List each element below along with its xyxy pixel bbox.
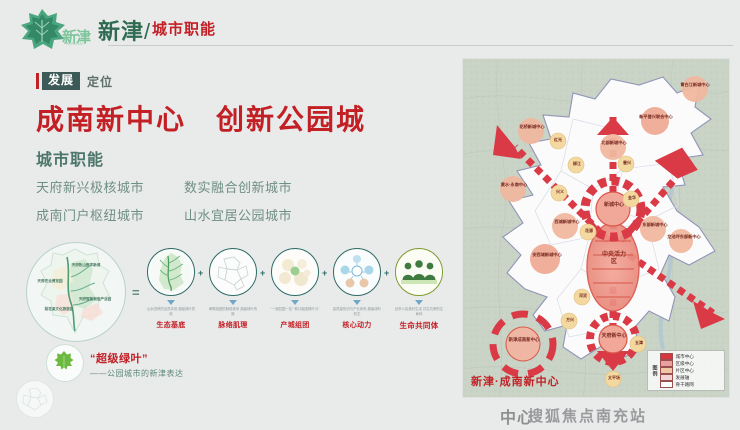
section-badge: 发展 定位	[36, 72, 113, 90]
legend-swatch	[660, 374, 673, 381]
map-label-area: 太平场	[605, 376, 623, 380]
diagram-node-core-power[interactable]: 高质量知识与产业体系 超级绿叶的芯 核心动力	[332, 248, 382, 330]
map-legend: 图例 城市中心 区级中心 片区中心 发展轴	[647, 350, 725, 391]
legend-text: 城市中心	[676, 354, 694, 360]
node-desc: 串联组团的脉络体系 超级绿叶的脉	[208, 307, 258, 318]
legend-swatch	[660, 360, 673, 367]
map-label-chengnan-center: 新津成南新中心	[505, 338, 543, 343]
territory-label: 天府智能制造产业园	[77, 297, 113, 301]
people-icon	[395, 248, 443, 296]
legend-row: 发展轴	[660, 374, 722, 381]
map-graphic	[463, 59, 729, 397]
faint-network-icon	[17, 381, 53, 417]
page-header: 新津 XINJIN 新津/ 城市职能	[0, 0, 740, 52]
map-label-area: 邓双	[574, 294, 592, 298]
river-network-icon	[147, 248, 195, 296]
planning-map[interactable]: 中央活力区 新城中心 天府新中心 新津成南新中心 花桥新城中心 北部新城中心 东…	[462, 58, 730, 398]
map-label-tianfu-center: 天府新中心	[598, 334, 630, 340]
hero-headline: 成南新中心 创新公园城	[36, 98, 366, 138]
xinjin-territory-circle: 天府牧山数字新城 天府农业博览园 天府智能制造产业园 梨花溪文化旅游区	[26, 242, 126, 342]
map-label-area: 兴义	[551, 190, 569, 194]
node-label: 生命共同体	[394, 320, 444, 331]
page-title: 新津/	[98, 14, 151, 46]
super-leaf-subtitle: ——公园城市的新津表达	[90, 368, 184, 379]
function-item: 天府新兴极核城市	[36, 177, 176, 196]
core-hub-icon	[333, 248, 381, 296]
function-item: 山水宜居公园城市	[184, 205, 324, 224]
node-label: 产城组团	[270, 320, 320, 330]
brand-logo[interactable]: 新津 XINJIN	[14, 6, 106, 50]
concept-diagram: 天府牧山数字新城 天府农业博览园 天府智能制造产业园 梨花溪文化旅游区 = 山水…	[8, 240, 448, 420]
map-label-district: 安西城新城中心	[529, 253, 565, 258]
map-label-city-center: 新城中心	[599, 203, 629, 209]
diagram-node-texture[interactable]: 串联组团的脉络体系 超级绿叶的脉 脉络肌理	[208, 248, 258, 330]
diagram-node-life-community[interactable]: 创享人民美好生活 共生共荣的生命体 生命共同体	[394, 248, 444, 331]
map-label-district: 新平普兴联合中心	[637, 115, 675, 120]
legend-row: 骨干路网	[660, 381, 722, 388]
legend-swatch	[660, 381, 673, 388]
down-arrow-icon	[229, 300, 237, 305]
plus-sign: +	[322, 268, 327, 278]
territory-label: 天府农业博览园	[35, 279, 65, 283]
diagram-node-eco-base[interactable]: 山水田林的自然本底 超级绿叶的底 生态基底	[146, 248, 196, 330]
down-arrow-icon	[415, 300, 423, 305]
page-title-text: 新津	[98, 19, 144, 44]
down-arrow-icon	[291, 300, 299, 305]
territory-map-icon	[27, 243, 125, 341]
legend-swatch	[660, 353, 673, 360]
map-label-area: 金华	[623, 196, 641, 200]
down-arrow-icon	[167, 300, 175, 305]
header-divider	[108, 45, 733, 46]
badge-accent-bar	[36, 73, 39, 89]
super-leaf-title: “超级绿叶”	[90, 350, 148, 366]
map-label-area: 花源	[580, 229, 598, 233]
territory-label: 天府牧山数字新城	[69, 263, 103, 267]
page-subtitle: 城市职能	[152, 18, 216, 39]
badge-tail-label: 定位	[87, 73, 113, 90]
logo-subtext: XINJIN	[66, 41, 83, 46]
map-label-district: 花桥新城中心	[515, 125, 549, 130]
badge-label: 发展	[42, 72, 80, 90]
map-caption: 新津·成南新中心	[471, 373, 560, 389]
map-label-district: 东部新城中心	[639, 223, 671, 228]
map-label-district: 黄水·永商中心	[497, 183, 531, 188]
functions-section-title: 城市职能	[36, 146, 104, 170]
legend-swatch	[660, 367, 673, 374]
legend-text: 片区中心	[676, 368, 694, 374]
node-desc: 山水田林的自然本底 超级绿叶的底	[146, 307, 196, 318]
node-label: 脉络肌理	[208, 320, 258, 330]
map-label-central-vitality: 中央活力区	[600, 252, 628, 265]
map-label-district: 龙池坪东部新中心	[665, 235, 703, 240]
legend-title: 图例	[651, 365, 658, 377]
node-desc: 创享人民美好生活 共生共荣的生命体	[394, 307, 444, 318]
down-arrow-icon	[353, 300, 361, 305]
node-label: 核心动力	[332, 320, 382, 330]
map-label-area: 普兴	[618, 161, 636, 165]
legend-row: 区级中心	[660, 360, 722, 367]
map-label-district: 西城新城中心	[551, 220, 583, 225]
legend-row: 片区中心	[660, 367, 722, 374]
diagram-node-cluster[interactable]: "一城四园一区" 种口组团绿叶'片' 产城组团	[270, 248, 320, 330]
legend-row: 城市中心	[660, 353, 722, 360]
street-grid-icon	[209, 248, 257, 296]
functions-grid: 天府新兴极核城市 数实融合创新城市 成南门户枢纽城市 山水宜居公园城市	[36, 177, 336, 224]
map-label-area: 柳江	[568, 162, 586, 166]
map-label-district: 北部新城中心	[598, 141, 630, 146]
title-slash: /	[144, 19, 151, 44]
secondary-diagram-circle	[16, 380, 54, 418]
function-item: 数实融合创新城市	[184, 177, 324, 196]
equals-sign: =	[132, 285, 140, 300]
plus-sign: +	[198, 268, 203, 278]
slide-root: 新津 XINJIN 新津/ 城市职能 发展 定位 成南新中心 创新公园城 城市职…	[0, 0, 740, 430]
map-label-area: 五津	[630, 341, 648, 345]
cluster-icon	[271, 248, 319, 296]
plus-sign: +	[384, 268, 389, 278]
leaf-logo-icon	[18, 8, 68, 50]
green-leaf-icon	[54, 350, 74, 370]
plus-sign: +	[260, 268, 265, 278]
watermark: 中心 搜狐焦点南充站	[500, 404, 740, 426]
map-label-area: 方兴	[561, 318, 579, 322]
watermark-text-b: 搜狐焦点南充站	[528, 405, 647, 426]
map-label-area: 红光	[549, 138, 567, 142]
territory-label: 梨花溪文化旅游区	[43, 307, 75, 311]
node-label: 生态基底	[146, 320, 196, 330]
node-desc: 高质量知识与产业体系 超级绿叶的芯	[332, 307, 382, 318]
map-label-district: 青白江新城中心	[677, 83, 713, 88]
diagram-nodes: 山水田林的自然本底 超级绿叶的底 生态基底 +	[146, 248, 446, 368]
legend-text: 发展轴	[676, 375, 690, 381]
node-desc: "一城四园一区" 种口组团绿叶'片'	[270, 307, 320, 318]
legend-items: 城市中心 区级中心 片区中心 发展轴 骨干路网	[660, 353, 722, 388]
legend-text: 骨干路网	[676, 382, 694, 388]
function-item: 成南门户枢纽城市	[36, 205, 176, 224]
legend-text: 区级中心	[676, 361, 694, 367]
